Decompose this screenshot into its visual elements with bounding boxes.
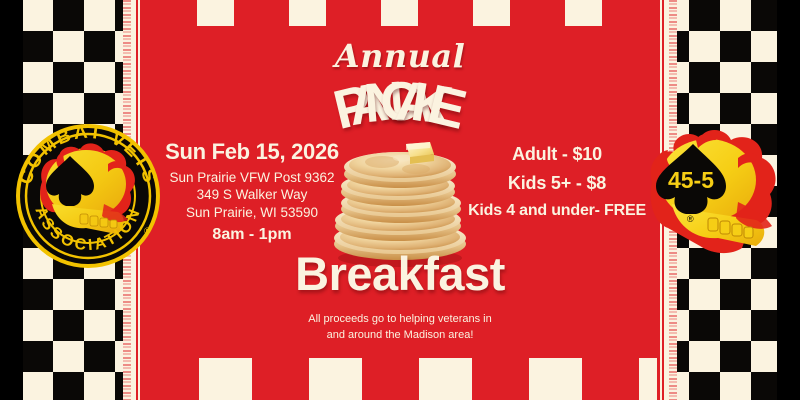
chapter-45-5-skull-logo: 45-5 ® (638, 118, 788, 268)
headline-pancake: PANCAKE (142, 74, 658, 132)
top-stripe-band (142, 0, 658, 26)
price-adult: Adult - $10 (457, 140, 657, 169)
proceeds-line-2: and around the Madison area! (142, 328, 658, 344)
headline-breakfast: Breakfast (142, 250, 658, 297)
bottom-stripe-band (142, 358, 658, 400)
event-info-block: Sun Feb 15, 2026 Sun Prairie VFW Post 93… (152, 140, 352, 244)
logo-trademark: ® (144, 226, 151, 236)
event-city: Sun Prairie, WI 53590 (152, 204, 352, 221)
price-kids-under-4: Kids 4 and under- FREE (457, 198, 657, 224)
chapter-number: 45-5 (668, 167, 714, 193)
flaming-skull-graphic: 45-5 ® (651, 130, 776, 253)
butter-pat (406, 142, 434, 164)
pricing-block: Adult - $10 Kids 5+ - $8 Kids 4 and unde… (457, 140, 657, 224)
headline-group: Annual PANCAKE (142, 40, 658, 132)
pancake-breakfast-flyer: Annual PANCAKE (0, 0, 800, 400)
logo-trademark: ® (687, 214, 694, 224)
event-street: 349 S Walker Way (152, 186, 352, 203)
proceeds-note: All proceeds go to helping veterans in a… (142, 312, 658, 344)
event-date: Sun Feb 15, 2026 (152, 140, 352, 164)
event-venue: Sun Prairie VFW Post 9362 (152, 169, 352, 186)
main-red-panel: Annual PANCAKE (142, 0, 658, 400)
combat-vets-association-logo: COMBAT VETS ASSOCIATION ® (8, 116, 168, 276)
proceeds-line-1: All proceeds go to helping veterans in (142, 312, 658, 328)
price-kids-5-plus: Kids 5+ - $8 (457, 169, 657, 198)
headline-annual: Annual (142, 40, 658, 72)
event-time: 8am - 1pm (152, 226, 352, 244)
